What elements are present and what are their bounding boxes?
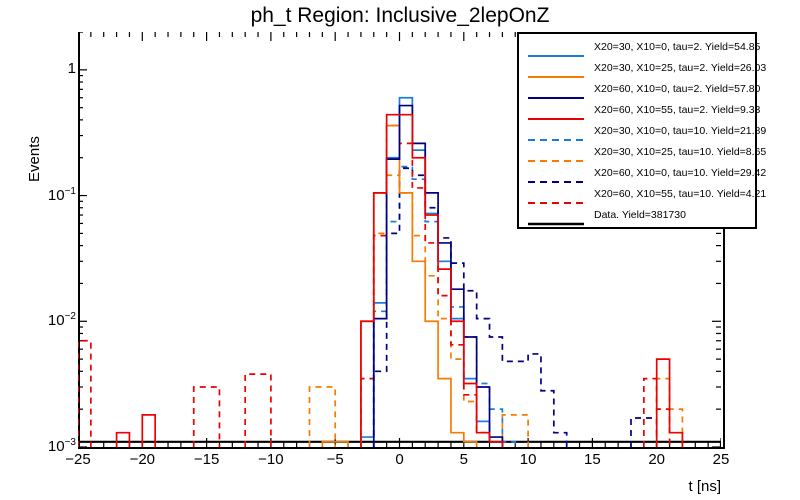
- legend-label: X20=30, X10=25, tau=2. Yield=26.03: [594, 63, 766, 74]
- y-tick-label: 10−2: [48, 311, 76, 329]
- x-tick-label: −25: [65, 451, 90, 468]
- x-tick-label: 5: [460, 451, 468, 468]
- x-tick-label: 10: [520, 451, 537, 468]
- x-tick-label: −5: [327, 451, 344, 468]
- legend-item: Data. Yield=381730: [519, 205, 755, 226]
- y-tick-label: 1: [68, 60, 76, 77]
- legend-item: X20=30, X10=25, tau=2. Yield=26.03: [519, 58, 755, 79]
- x-tick-label: 15: [584, 451, 601, 468]
- series-line: [374, 106, 503, 447]
- legend-label: X20=60, X10=0, tau=2. Yield=57.80: [594, 84, 760, 95]
- legend-item: X20=60, X10=0, tau=10. Yield=29.42: [519, 163, 755, 184]
- x-tick-label: −10: [258, 451, 283, 468]
- chart-canvas: ph_t Region: Inclusive_2lepOnZ Events t …: [0, 0, 800, 500]
- x-tick-label: 0: [395, 451, 403, 468]
- series-line: [361, 98, 502, 447]
- legend-item: X20=60, X10=55, tau=2. Yield=9.33: [519, 100, 755, 121]
- chart-legend: X20=30, X10=0, tau=2. Yield=54.85X20=30,…: [517, 32, 757, 229]
- x-tick-label: −15: [194, 451, 219, 468]
- x-tick-label: 20: [648, 451, 665, 468]
- legend-item: X20=30, X10=25, tau=10. Yield=8.65: [519, 142, 755, 163]
- x-tick-label: −20: [130, 451, 155, 468]
- legend-label: X20=60, X10=55, tau=2. Yield=9.33: [594, 105, 760, 116]
- y-tick-label: 10−1: [48, 186, 76, 204]
- legend-label: Data. Yield=381730: [594, 210, 686, 221]
- legend-item: X20=30, X10=0, tau=2. Yield=54.85: [519, 37, 755, 58]
- legend-label: X20=60, X10=0, tau=10. Yield=29.42: [594, 168, 766, 179]
- y-axis-label: Events: [26, 136, 43, 182]
- legend-item: X20=60, X10=55, tau=10. Yield=4.21: [519, 184, 755, 205]
- legend-label: X20=30, X10=0, tau=10. Yield=21.89: [594, 126, 766, 137]
- x-axis-label: t [ns]: [688, 478, 721, 495]
- legend-item: X20=60, X10=0, tau=2. Yield=57.80: [519, 79, 755, 100]
- legend-label: X20=30, X10=0, tau=2. Yield=54.85: [594, 42, 760, 53]
- x-tick-label: 25: [713, 451, 730, 468]
- legend-label: X20=30, X10=25, tau=10. Yield=8.65: [594, 147, 766, 158]
- chart-title: ph_t Region: Inclusive_2lepOnZ: [0, 4, 800, 28]
- series-line: [322, 126, 476, 447]
- legend-item: X20=30, X10=0, tau=10. Yield=21.89: [519, 121, 755, 142]
- series-line: [374, 167, 515, 447]
- legend-label: X20=60, X10=55, tau=10. Yield=4.21: [594, 189, 766, 200]
